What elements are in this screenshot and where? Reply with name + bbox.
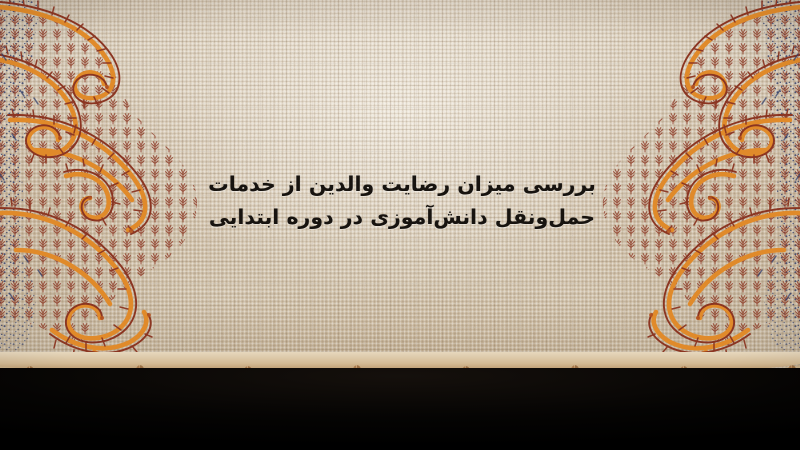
lower-black-band [0,368,800,450]
title-line-1: بررسی میزان رضایت والدین از خدمات [196,168,608,201]
title-line-2: حمل‌ونقل دانش‌آموزی در دوره ابتدایی [196,201,608,234]
slide-canvas: بررسی میزان رضایت والدین از خدمات حمل‌ون… [0,0,800,450]
slide-title: بررسی میزان رضایت والدین از خدمات حمل‌ون… [196,168,608,234]
